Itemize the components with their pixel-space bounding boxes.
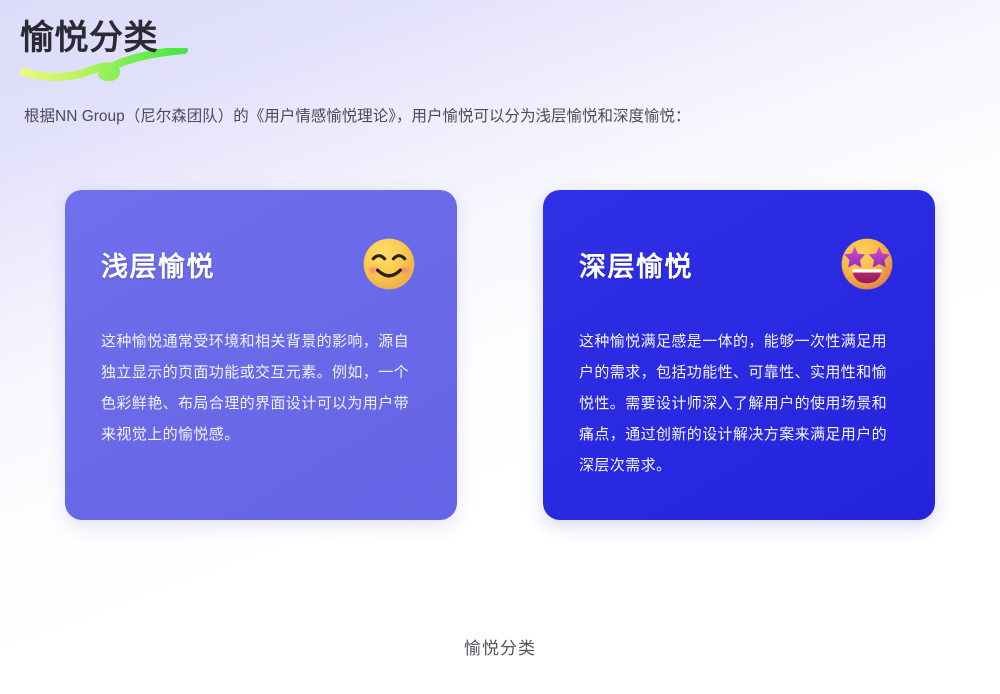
smiling-face-with-smiling-eyes-emoji: [361, 236, 417, 292]
star-struck-emoji: [839, 236, 895, 292]
card-description: 这种愉悦满足感是一体的，能够一次性满足用户的需求，包括功能性、可靠性、实用性和愉…: [579, 326, 899, 481]
card-deep-delight[interactable]: 深层愉悦: [543, 190, 935, 520]
footer-caption: 愉悦分类: [0, 634, 1000, 659]
card-shallow-delight[interactable]: 浅层愉悦: [65, 190, 457, 520]
card-header: 深层愉悦: [579, 236, 899, 292]
delight-category-cards: 浅层愉悦: [65, 190, 935, 520]
page-header: 愉悦分类: [20, 14, 440, 80]
card-title: 浅层愉悦: [101, 245, 215, 284]
intro-paragraph: 根据NN Group（尼尔森团队）的《用户情感愉悦理论》，用户愉悦可以分为浅层愉…: [24, 104, 974, 130]
page-title: 愉悦分类: [20, 14, 440, 62]
page-root: 愉悦分类 根据NN Group（尼尔森团队）的《用户情感愉悦理论》，用户愉悦可以…: [0, 0, 1000, 694]
card-title: 深层愉悦: [579, 245, 693, 284]
card-header: 浅层愉悦: [101, 236, 421, 292]
card-description: 这种愉悦通常受环境和相关背景的影响，源自独立显示的页面功能或交互元素。例如，一个…: [101, 326, 421, 450]
